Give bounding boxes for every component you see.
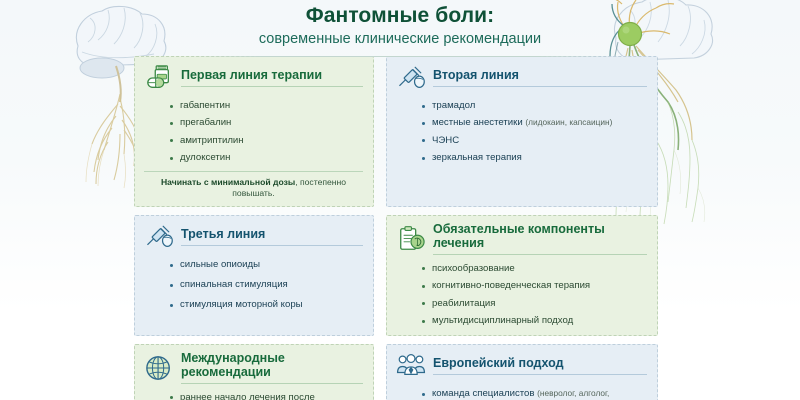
list-item: стимуляция моторной коры <box>170 299 363 311</box>
list-item: трамадол <box>422 100 647 112</box>
card-second-line[interactable]: Вторая линия трамадол местные анестетики… <box>386 56 658 207</box>
card-title: Вторая линия <box>433 69 647 87</box>
list-item: дулоксетин <box>170 152 363 164</box>
list-item: реабилитация <box>422 298 647 310</box>
list-item: команда специалистов (невролог, алголог,… <box>422 388 647 400</box>
card-header: Вторая линия <box>396 64 647 95</box>
header-divider <box>185 56 615 57</box>
card-header: Первая линия терапии <box>144 64 363 95</box>
card-bullet-list: команда специалистов (невролог, алголог,… <box>422 388 647 400</box>
card-third-line[interactable]: Третья линия сильные опиоиды спинальная … <box>134 215 374 336</box>
footnote-emphasis: Начинать с минимальной дозы <box>161 177 295 187</box>
list-item: зеркальная терапия <box>422 152 647 164</box>
list-item-text: команда специалистов <box>432 388 537 399</box>
list-item: габапентин <box>170 100 363 112</box>
card-header: Третья линия <box>144 223 363 254</box>
page-title: Фантомные боли: <box>0 4 800 28</box>
globe-icon <box>144 354 174 382</box>
card-european-approach[interactable]: Европейский подход команда специалистов … <box>386 344 658 400</box>
list-item: спинальная стимуляция <box>170 279 363 291</box>
card-bullet-list: габапентин прегабалин амитриптилин дулок… <box>170 100 363 164</box>
card-title: Международные рекомендации <box>181 352 363 384</box>
team-people-icon <box>396 352 426 380</box>
card-header: Международные рекомендации <box>144 352 363 387</box>
card-bullet-list: сильные опиоиды спинальная стимуляция ст… <box>170 259 363 311</box>
page-header: Фантомные боли: современные клинические … <box>0 4 800 57</box>
card-bullet-list: трамадол местные анестетики (лидокаин, к… <box>422 100 647 164</box>
list-item: когнитивно-поведенческая терапия <box>422 280 647 292</box>
list-item: ЧЭНС <box>422 135 647 147</box>
card-title: Обязательные компоненты лечения <box>433 223 647 255</box>
list-item-note: (лидокаин, капсаицин) <box>525 117 612 127</box>
clipboard-brain-icon <box>396 225 426 253</box>
syringe-icon <box>144 223 174 251</box>
page-subtitle: современные клинические рекомендации <box>0 31 800 48</box>
card-bullet-list: психообразование когнитивно-поведенческа… <box>422 263 647 327</box>
syringe-icon <box>396 64 426 92</box>
pill-bottle-icon <box>144 64 174 92</box>
card-title: Европейский подход <box>433 357 647 375</box>
list-item: прегабалин <box>170 117 363 129</box>
list-item-text: трамадол <box>432 100 475 111</box>
list-item-text: местные анестетики <box>432 117 525 128</box>
card-bullet-list: раннее начало лечения после ампутации ко… <box>170 392 363 400</box>
recommendation-card-grid: Первая линия терапии габапентин прегабал… <box>134 56 658 400</box>
card-mandatory-components[interactable]: Обязательные компоненты лечения психообр… <box>386 215 658 336</box>
list-item: мультидисциплинарный подход <box>422 315 647 327</box>
list-item: сильные опиоиды <box>170 259 363 271</box>
card-international-recommendations[interactable]: Международные рекомендации раннее начало… <box>134 344 374 400</box>
card-first-line-therapy[interactable]: Первая линия терапии габапентин прегабал… <box>134 56 374 207</box>
list-item: раннее начало лечения после ампутации <box>170 392 363 400</box>
card-header: Европейский подход <box>396 352 647 383</box>
card-title: Первая линия терапии <box>181 69 363 87</box>
list-item: амитриптилин <box>170 135 363 147</box>
card-header: Обязательные компоненты лечения <box>396 223 647 258</box>
list-item: местные анестетики (лидокаин, капсаицин) <box>422 117 647 129</box>
list-item: психообразование <box>422 263 647 275</box>
list-item-text: ЧЭНС <box>432 135 459 146</box>
list-item-text: зеркальная терапия <box>432 152 522 163</box>
card-footnote: Начинать с минимальной дозы, постепенно … <box>144 171 363 198</box>
card-title: Третья линия <box>181 228 363 246</box>
